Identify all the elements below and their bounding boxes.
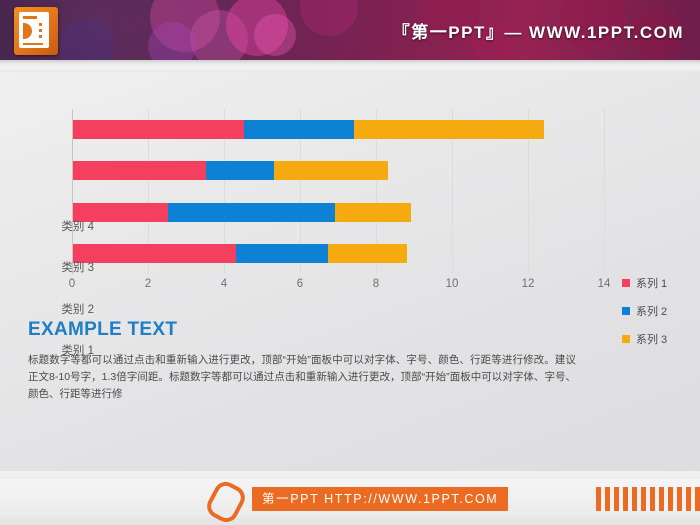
page-title: EXAMPLE TEXT — [28, 319, 177, 341]
legend-label: 系列 2 — [636, 303, 667, 319]
x-axis-tick-label: 10 — [446, 278, 459, 290]
x-axis-tick-label: 6 — [297, 278, 303, 290]
stacked-bar-chart: 02468101214 类别 1类别 2类别 3类别 4 系列 1系列 2系列 … — [0, 95, 700, 310]
bokeh-circle — [60, 18, 114, 60]
legend-swatch-icon — [622, 279, 630, 287]
legend-swatch-icon — [622, 307, 630, 315]
chart-bar-segment[interactable] — [335, 203, 411, 222]
chart-bar-segment[interactable] — [73, 120, 244, 139]
chart-bar-segment[interactable] — [354, 120, 544, 139]
y-axis-label: 类别 2 — [61, 301, 94, 317]
body-paragraph: 标题数字等都可以通过点击和重新输入进行更改，顶部“开始”面板中可以对字体、字号、… — [28, 352, 576, 403]
legend-item[interactable]: 系列 3 — [622, 331, 667, 347]
x-axis-tick-label: 12 — [522, 278, 535, 290]
legend-item[interactable]: 系列 2 — [622, 303, 667, 319]
x-axis-tick-label: 8 — [373, 278, 379, 290]
bokeh-circle — [190, 10, 248, 60]
bokeh-circle — [226, 0, 288, 56]
y-axis-label: 类别 3 — [61, 259, 94, 275]
chart-bar-segment[interactable] — [328, 244, 408, 263]
footer-label: 第一PPT HTTP://WWW.1PPT.COM — [252, 487, 508, 511]
bokeh-circle — [254, 14, 296, 56]
site-title: 『第一PPT』— WWW.1PPT.COM — [393, 18, 684, 43]
chart-bar-segment[interactable] — [244, 120, 354, 139]
legend-label: 系列 1 — [636, 275, 667, 291]
bokeh-circle — [150, 0, 220, 52]
bokeh-circle — [300, 0, 358, 36]
chart-bar-segment[interactable] — [274, 161, 388, 180]
chart-legend: 系列 1系列 2系列 3 — [622, 275, 667, 359]
footer-stripes — [596, 487, 700, 511]
legend-item[interactable]: 系列 1 — [622, 275, 667, 291]
legend-label: 系列 3 — [636, 331, 667, 347]
y-axis-label: 类别 4 — [61, 218, 94, 234]
bokeh-circle — [148, 22, 196, 60]
chart-plot-area — [72, 109, 604, 274]
chart-bar-segment[interactable] — [236, 244, 327, 263]
top-banner: 『第一PPT』— WWW.1PPT.COM — [0, 0, 700, 60]
powerpoint-logo-icon — [10, 3, 58, 55]
x-axis-tick-label: 0 — [69, 278, 75, 290]
legend-swatch-icon — [622, 335, 630, 343]
x-axis-tick-label: 4 — [221, 278, 227, 290]
chart-bar-segment[interactable] — [73, 244, 236, 263]
chart-bar-segment[interactable] — [168, 203, 335, 222]
slide: 『第一PPT』— WWW.1PPT.COM 02468101214 类别 1类别… — [0, 0, 700, 525]
paperclip-icon — [210, 483, 236, 515]
chart-bar-segment[interactable] — [73, 161, 206, 180]
chart-gridline — [604, 109, 605, 274]
x-axis-tick-label: 14 — [598, 278, 611, 290]
x-axis-tick-label: 2 — [145, 278, 151, 290]
chart-bar-segment[interactable] — [206, 161, 274, 180]
banner-shelf — [0, 60, 700, 72]
